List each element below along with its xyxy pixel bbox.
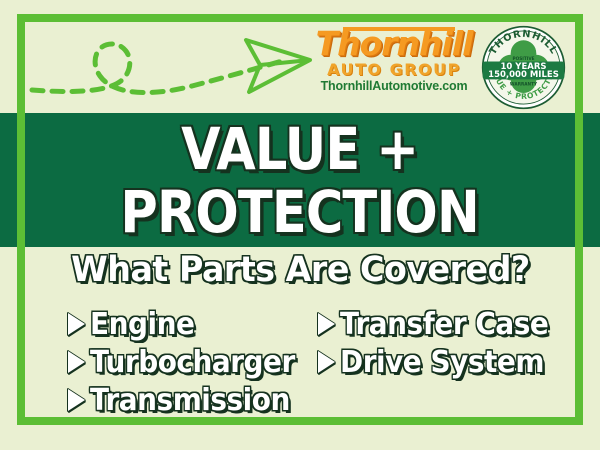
seal-miles-text: 150,000 MILES bbox=[488, 70, 559, 80]
coverage-item-label: Turbocharger bbox=[90, 345, 295, 380]
triangle-bullet-icon bbox=[68, 351, 85, 373]
banner-title-group: VALUE + PROTECTION bbox=[0, 113, 600, 247]
logo-subname: AUTO GROUP bbox=[315, 61, 473, 79]
warranty-seal-badge: THORNHILL VALUE + PROTECTION POSITIVE 10… bbox=[481, 25, 566, 110]
thornhill-logo: Thornhill AUTO GROUP ThornhillAutomotive… bbox=[315, 27, 473, 107]
triangle-bullet-icon bbox=[68, 313, 85, 335]
list-item: Engine bbox=[68, 305, 310, 343]
list-item: Transfer Case bbox=[318, 305, 564, 343]
coverage-item-label: Engine bbox=[90, 307, 194, 342]
triangle-bullet-icon bbox=[318, 351, 335, 373]
banner-title-line-1: VALUE + bbox=[182, 120, 419, 178]
coverage-item-label: Transmission bbox=[90, 383, 290, 418]
seal-small-bottom-text: WARRANTY bbox=[510, 81, 538, 87]
subtitle-text: What Parts Are Covered? bbox=[71, 250, 530, 290]
coverage-column-left: Engine Turbocharger Transmission bbox=[68, 305, 310, 419]
coverage-column-right: Transfer Case Drive System bbox=[318, 305, 564, 381]
coverage-item-label: Drive System bbox=[340, 345, 544, 380]
logo-overbar bbox=[343, 27, 455, 31]
paper-plane-icon bbox=[24, 16, 314, 108]
subtitle-question: What Parts Are Covered? bbox=[0, 250, 600, 290]
triangle-bullet-icon bbox=[68, 389, 85, 411]
coverage-lists: Engine Turbocharger Transmission Transfe… bbox=[0, 305, 600, 420]
triangle-bullet-icon bbox=[318, 313, 335, 335]
coverage-item-label: Transfer Case bbox=[340, 307, 548, 342]
list-item: Drive System bbox=[318, 343, 564, 381]
advertisement-banner: Thornhill AUTO GROUP ThornhillAutomotive… bbox=[0, 0, 600, 450]
banner-title-line-2: PROTECTION bbox=[121, 183, 479, 241]
list-item: Turbocharger bbox=[68, 343, 310, 381]
logo-wordmark: Thornhill bbox=[315, 27, 473, 61]
list-item: Transmission bbox=[68, 381, 310, 419]
logo-website-url: ThornhillAutomotive.com bbox=[315, 79, 473, 94]
header-region: Thornhill AUTO GROUP ThornhillAutomotive… bbox=[0, 0, 600, 113]
